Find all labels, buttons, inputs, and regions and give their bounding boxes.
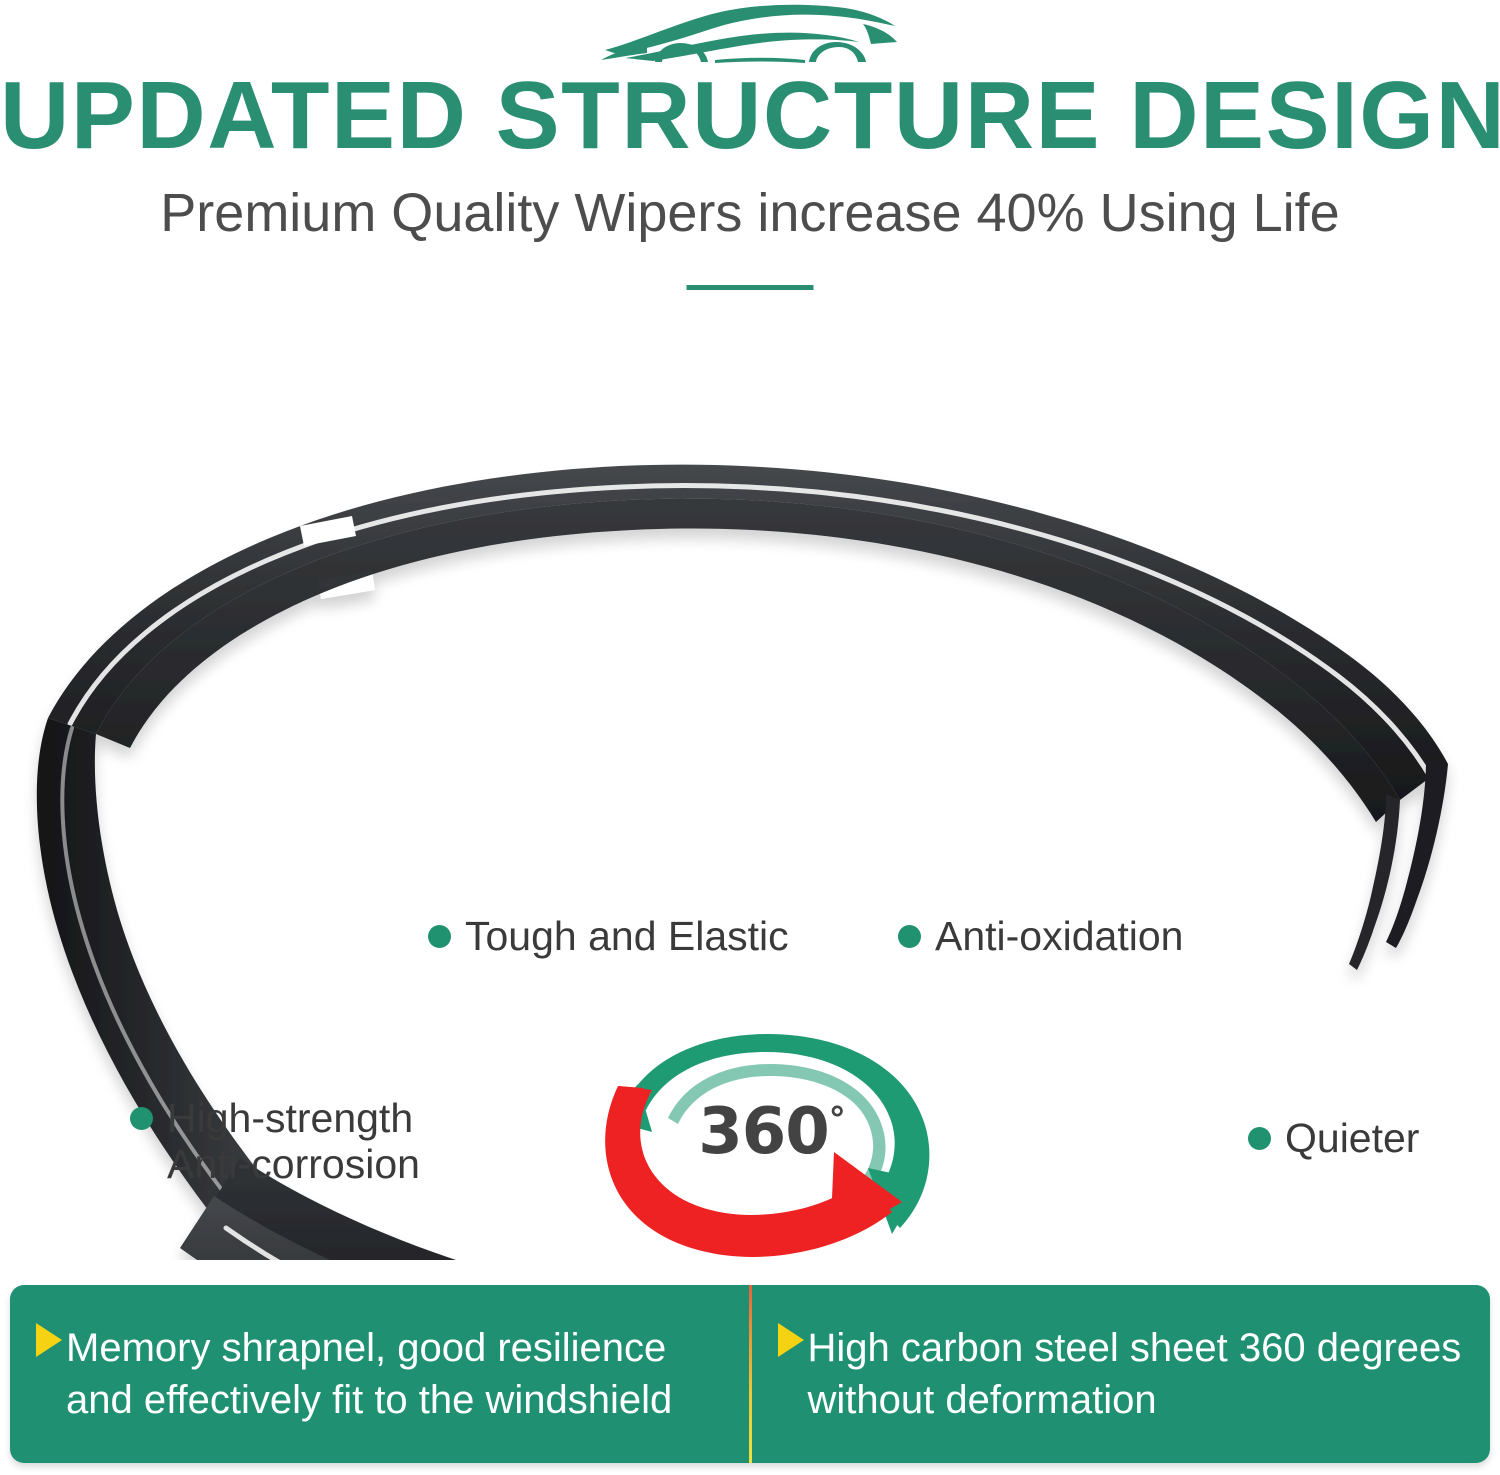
bottom-left-line2: and effectively fit to the windshield: [66, 1378, 672, 1422]
bottom-panel-left-text: Memory shrapnel, good resilienceand effe…: [66, 1322, 672, 1426]
car-silhouette-icon: [595, 2, 905, 66]
infographic-page: UPDATED STRUCTURE DESIGN Premium Quality…: [0, 0, 1500, 1475]
page-title: UPDATED STRUCTURE DESIGN: [0, 64, 1500, 168]
title-divider: [687, 285, 814, 290]
page-subtitle: Premium Quality Wipers increase 40% Usin…: [0, 180, 1500, 246]
bottom-panel-right: High carbon steel sheet 360 degreeswitho…: [752, 1285, 1491, 1463]
header-section: UPDATED STRUCTURE DESIGN Premium Quality…: [0, 0, 1500, 310]
bullet-dot-icon: [898, 925, 921, 948]
bottom-right-line1: High carbon steel sheet 360 degrees: [808, 1326, 1462, 1370]
bottom-left-line1: Memory shrapnel, good resilience: [66, 1326, 666, 1370]
product-image-area: Tough and Elastic Anti-oxidation High-st…: [0, 330, 1500, 1260]
feature-text-line2: Anti-corrosion: [167, 1141, 420, 1187]
feature-text: Anti-oxidation: [935, 913, 1183, 959]
bottom-panel-right-text: High carbon steel sheet 360 degreeswitho…: [808, 1322, 1462, 1426]
feature-label-high-strength-anti-corrosion: High-strengthAnti-corrosion: [130, 1095, 420, 1187]
bullet-dot-icon: [1248, 1127, 1271, 1150]
triangle-bullet-icon: [778, 1323, 804, 1357]
feature-label-anti-oxidation: Anti-oxidation: [898, 913, 1183, 959]
bottom-right-line2: without deformation: [808, 1378, 1157, 1422]
triangle-bullet-icon: [36, 1323, 62, 1357]
360-degree-badge: 360°: [572, 1022, 972, 1262]
feature-label-tough-and-elastic: Tough and Elastic: [428, 913, 789, 959]
bottom-feature-banner: Memory shrapnel, good resilienceand effe…: [10, 1285, 1490, 1463]
feature-text: Quieter: [1285, 1115, 1419, 1161]
bullet-dot-icon: [130, 1107, 153, 1130]
feature-label-quieter: Quieter: [1248, 1115, 1419, 1161]
feature-text-line1: High-strength: [167, 1095, 413, 1141]
bullet-dot-icon: [428, 925, 451, 948]
feature-text-multiline: High-strengthAnti-corrosion: [167, 1095, 420, 1187]
feature-text: Tough and Elastic: [465, 913, 789, 959]
bottom-panel-left: Memory shrapnel, good resilienceand effe…: [10, 1285, 749, 1463]
red-rotation-arrow-icon: [605, 1086, 902, 1257]
